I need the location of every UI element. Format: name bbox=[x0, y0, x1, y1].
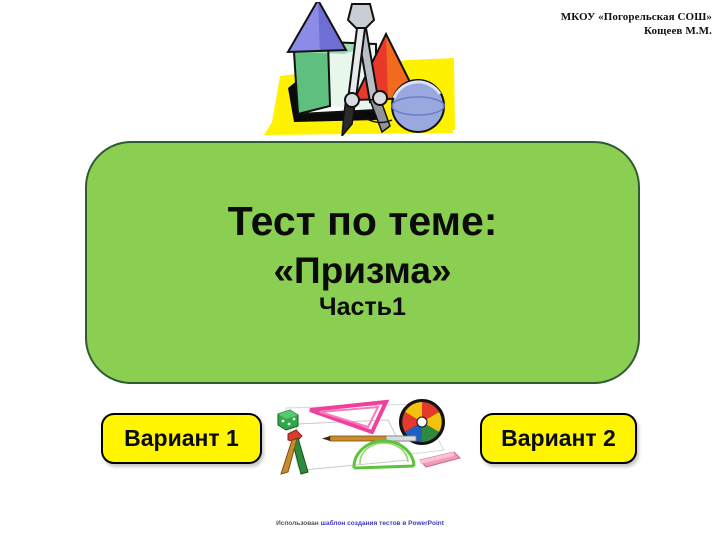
geometry-solids-icon bbox=[258, 2, 458, 136]
footer-plain-text: Использован bbox=[276, 520, 320, 527]
school-supplies-icon bbox=[268, 398, 464, 478]
title-line-3: Часть1 bbox=[319, 294, 406, 322]
title-line-2: «Призма» bbox=[273, 251, 451, 292]
header-credit: МКОУ «Погорельская СОШ» Кощеев М.М. bbox=[462, 10, 712, 38]
variant-2-label: Вариант 2 bbox=[501, 425, 616, 452]
variant-2-button[interactable]: Вариант 2 bbox=[480, 413, 637, 464]
geometry-solids-clipart bbox=[258, 2, 458, 136]
template-source-link[interactable]: шаблон создания тестов в PowerPoint bbox=[321, 520, 444, 527]
variant-1-label: Вариант 1 bbox=[124, 425, 239, 452]
title-panel: Тест по теме: «Призма» Часть1 bbox=[85, 141, 640, 384]
footer-credit: Использован шаблон создания тестов в Pow… bbox=[0, 519, 720, 528]
school-name: МКОУ «Погорельская СОШ» bbox=[462, 10, 712, 24]
school-supplies-clipart bbox=[268, 398, 464, 478]
variant-1-button[interactable]: Вариант 1 bbox=[101, 413, 262, 464]
title-line-1: Тест по теме: bbox=[228, 200, 498, 243]
author-name: Кощеев М.М. bbox=[462, 24, 712, 38]
